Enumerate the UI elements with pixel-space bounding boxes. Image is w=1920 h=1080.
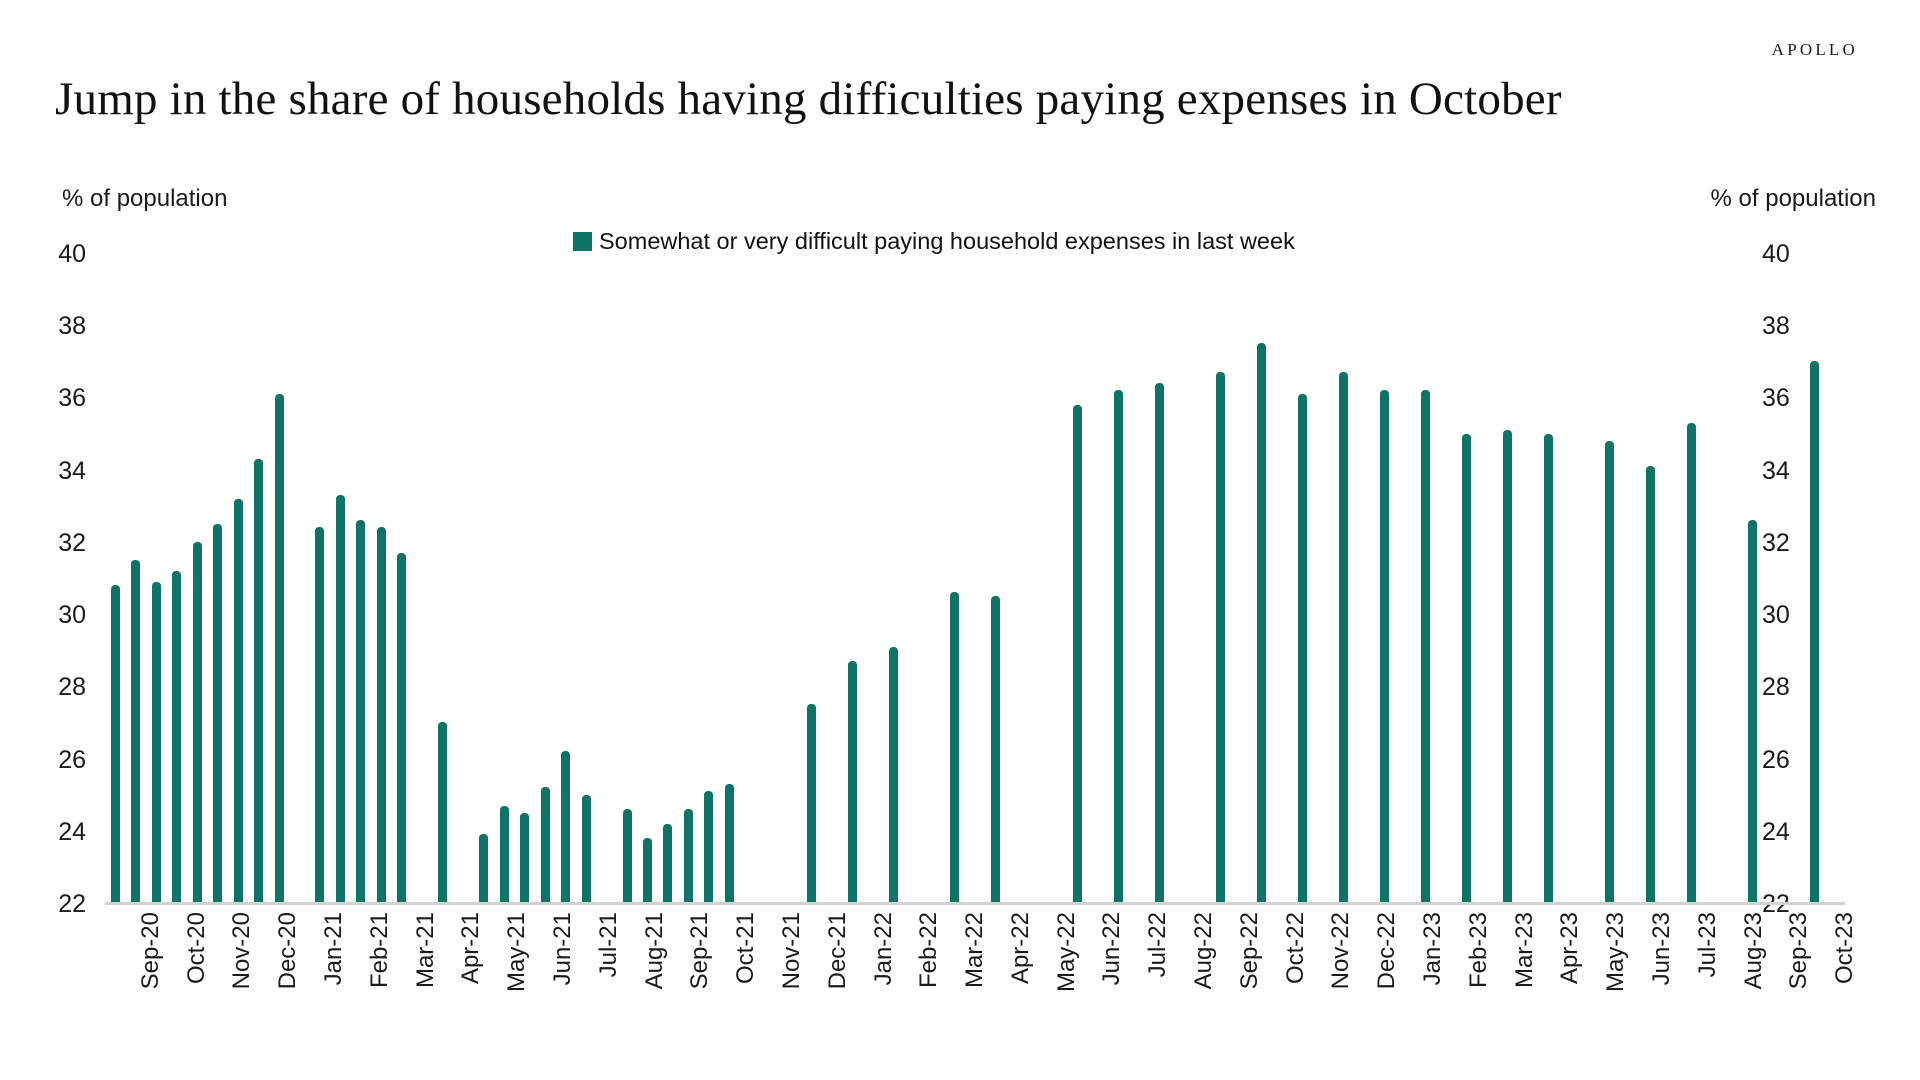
bar [213,524,222,903]
bar [1605,441,1614,903]
y-tick-left-38: 38 [26,314,86,339]
bar [111,585,120,903]
x-tick-jul-21: Jul-21 [595,912,623,977]
x-tick-jun-22: Jun-22 [1098,912,1126,985]
bar [315,527,324,903]
x-tick-jul-23: Jul-23 [1694,912,1722,977]
chart-legend: Somewhat or very difficult paying househ… [573,228,1295,255]
x-tick-dec-20: Dec-20 [274,912,302,989]
bar [397,553,406,903]
x-tick-feb-21: Feb-21 [366,912,394,988]
bar [889,647,898,903]
bar [234,499,243,903]
x-tick-jun-21: Jun-21 [549,912,577,985]
x-tick-oct-22: Oct-22 [1282,912,1310,984]
x-tick-may-22: May-22 [1053,912,1081,992]
x-tick-oct-23: Oct-23 [1831,912,1859,984]
plot-area [105,255,1845,905]
x-tick-sep-23: Sep-23 [1785,912,1813,989]
bar [848,661,857,903]
bar [1748,520,1757,903]
legend-series-label: Somewhat or very difficult paying househ… [599,228,1295,255]
left-axis-caption: % of population [62,185,227,213]
x-tick-feb-23: Feb-23 [1465,912,1493,988]
y-tick-left-22: 22 [26,892,86,917]
bar [1646,466,1655,903]
y-tick-left-28: 28 [26,675,86,700]
x-tick-jul-22: Jul-22 [1144,912,1172,977]
bar [438,722,447,903]
bar [377,527,386,903]
x-tick-nov-20: Nov-20 [228,912,256,989]
bar [643,838,652,903]
x-tick-jan-22: Jan-22 [870,912,898,985]
x-tick-dec-22: Dec-22 [1373,912,1401,989]
x-tick-aug-21: Aug-21 [641,912,669,989]
y-tick-left-30: 30 [26,603,86,628]
x-tick-apr-21: Apr-21 [457,912,485,984]
bar [1810,361,1819,903]
x-tick-jun-23: Jun-23 [1648,912,1676,985]
bar [807,704,816,903]
x-axis-line [105,902,1845,905]
x-tick-apr-23: Apr-23 [1556,912,1584,984]
bar [1114,390,1123,903]
y-tick-left-24: 24 [26,820,86,845]
x-tick-feb-22: Feb-22 [915,912,943,988]
y-tick-left-36: 36 [26,386,86,411]
x-tick-nov-21: Nov-21 [778,912,806,989]
bar [500,806,509,904]
bar [1298,394,1307,903]
x-tick-mar-21: Mar-21 [412,912,440,988]
x-tick-may-21: May-21 [503,912,531,992]
x-tick-sep-21: Sep-21 [686,912,714,989]
bar [131,560,140,903]
x-tick-aug-22: Aug-22 [1190,912,1218,989]
bar [1155,383,1164,903]
bar [1462,434,1471,903]
bar [152,582,161,903]
bar [1339,372,1348,903]
bar [623,809,632,903]
x-tick-apr-22: Apr-22 [1007,912,1035,984]
legend-color-swatch [573,232,592,251]
bar [356,520,365,903]
bar [1257,343,1266,903]
y-tick-left-40: 40 [26,242,86,267]
y-tick-left-32: 32 [26,531,86,556]
x-tick-jan-23: Jan-23 [1419,912,1447,985]
x-tick-nov-22: Nov-22 [1327,912,1355,989]
bar [950,592,959,903]
bar [1073,405,1082,903]
x-axis-labels: Sep-20Oct-20Nov-20Dec-20Jan-21Feb-21Mar-… [105,912,1845,1080]
bar [1503,430,1512,903]
bar [541,787,550,903]
bar [1687,423,1696,903]
bars-container [105,255,1845,905]
bar [663,824,672,903]
bar [684,809,693,903]
x-tick-aug-23: Aug-23 [1740,912,1768,989]
bar [1380,390,1389,903]
y-tick-left-26: 26 [26,748,86,773]
x-tick-oct-21: Oct-21 [732,912,760,984]
bar [193,542,202,903]
apollo-logo: APOLLO [1772,40,1858,60]
bar [275,394,284,903]
x-tick-sep-20: Sep-20 [137,912,165,989]
bar [1216,372,1225,903]
y-tick-left-34: 34 [26,459,86,484]
bar [1544,434,1553,903]
bar [336,495,345,903]
bar [704,791,713,903]
x-tick-dec-21: Dec-21 [824,912,852,989]
x-tick-mar-22: Mar-22 [961,912,989,988]
x-tick-may-23: May-23 [1602,912,1630,992]
x-tick-mar-23: Mar-23 [1511,912,1539,988]
bar [479,834,488,903]
chart-title: Jump in the share of households having d… [55,72,1562,126]
bar [561,751,570,903]
bar [172,571,181,903]
x-tick-oct-20: Oct-20 [183,912,211,984]
bar [520,813,529,903]
bar [725,784,734,903]
bar [1421,390,1430,903]
bar [254,459,263,903]
x-tick-jan-21: Jan-21 [320,912,348,985]
bar [582,795,591,903]
bar [991,596,1000,903]
right-axis-caption: % of population [1711,185,1876,213]
x-tick-sep-22: Sep-22 [1236,912,1264,989]
